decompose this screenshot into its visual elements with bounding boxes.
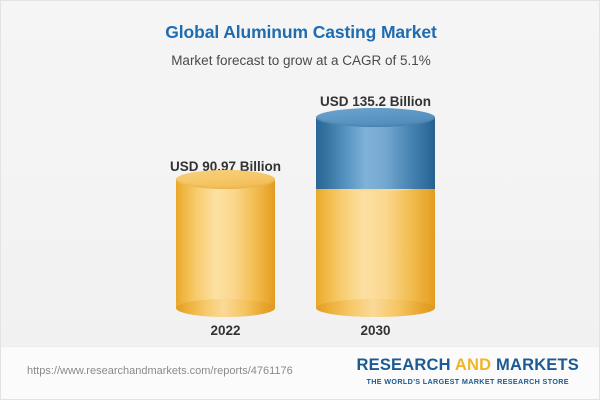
bar-cylinder-2022: [176, 180, 275, 308]
chart-plot-area: USD 90.97 Billion 2022 USD 135.2 Billion…: [1, 1, 600, 346]
bar-value-label-2030: USD 135.2 Billion: [320, 94, 431, 109]
footer: https://www.researchandmarkets.com/repor…: [1, 346, 600, 399]
logo-word-markets: MARKETS: [496, 356, 579, 374]
bar-segment-base-2022: [176, 180, 275, 308]
infographic-card: Global Aluminum Casting Market Market fo…: [0, 0, 600, 400]
logo-word-research: RESEARCH: [357, 356, 455, 374]
bar-segment-base-2030: [316, 183, 435, 308]
bar-top-cap-2030: [316, 108, 435, 127]
axis-label-2022: 2022: [210, 323, 240, 338]
source-url-link[interactable]: https://www.researchandmarkets.com/repor…: [27, 365, 293, 377]
bar-segment-growth-2030: [316, 118, 435, 189]
research-and-markets-logo[interactable]: RESEARCH AND MARKETS THE WORLD'S LARGEST…: [357, 356, 580, 386]
bar-cylinder-2030: [316, 118, 435, 308]
axis-label-2030: 2030: [360, 323, 390, 338]
logo-wordmark: RESEARCH AND MARKETS: [357, 356, 580, 375]
logo-word-and: AND: [455, 356, 496, 374]
logo-tagline: THE WORLD'S LARGEST MARKET RESEARCH STOR…: [357, 377, 580, 386]
bar-top-cap-2022: [176, 170, 275, 189]
